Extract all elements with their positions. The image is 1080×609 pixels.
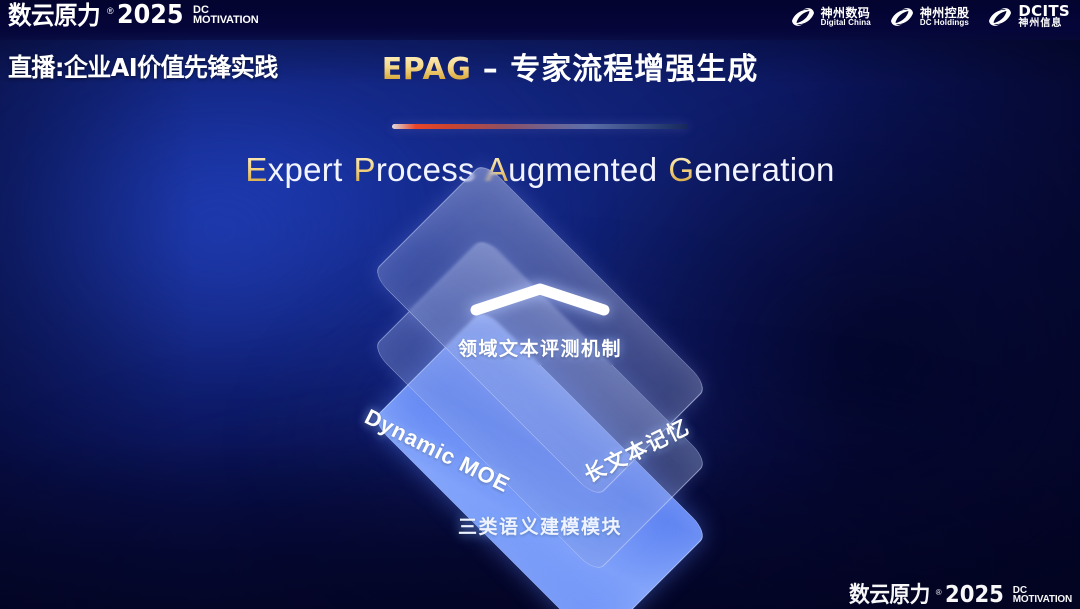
swoosh-icon bbox=[889, 6, 915, 28]
partner-name-en: 神州信息 bbox=[1018, 19, 1070, 29]
expansion-rest: xpert bbox=[268, 151, 343, 188]
brand-name-cn: 数云原力 bbox=[8, 3, 100, 28]
partner-name-en: DC Holdings bbox=[920, 19, 970, 27]
title-separator: – bbox=[471, 52, 510, 87]
brand-motivation-label: MOTIVATION bbox=[1013, 595, 1072, 604]
title-acronym: EPAG bbox=[382, 52, 472, 87]
slide-title: EPAG – 专家流程增强生成 bbox=[0, 53, 1080, 86]
partner-name-cn: DCITS bbox=[1018, 4, 1070, 19]
brand-registered-mark: ® bbox=[107, 7, 114, 16]
brand-registered-mark: ® bbox=[936, 589, 942, 597]
expansion-rest: eneration bbox=[694, 151, 834, 188]
expansion-word-expert: Expert bbox=[245, 151, 342, 188]
partner-name-cn: 神州控股 bbox=[920, 7, 970, 19]
brand-logo-top: 数云原力 ® 2025 DC MOTIVATION bbox=[8, 2, 258, 28]
swoosh-icon bbox=[987, 6, 1013, 28]
partner-name-en: Digital China bbox=[821, 19, 871, 27]
title-divider bbox=[392, 124, 688, 129]
brand-dc-motivation: DC MOTIVATION bbox=[193, 5, 258, 25]
expansion-initial: E bbox=[245, 151, 267, 188]
partner-logo-dcits: DCITS 神州信息 bbox=[987, 4, 1070, 29]
slide-canvas: 数云原力 ® 2025 DC MOTIVATION 直播:企业AI价值先锋实践 … bbox=[0, 0, 1080, 609]
swoosh-icon bbox=[790, 6, 816, 28]
expansion-initial: P bbox=[354, 151, 376, 188]
brand-dc-motivation: DC MOTIVATION bbox=[1013, 586, 1072, 604]
partner-logo-group: 神州数码 Digital China 神州控股 DC Holdings bbox=[790, 4, 1070, 29]
brand-logo-watermark: 数云原力 ® 2025 DC MOTIVATION bbox=[849, 584, 1072, 607]
partner-logo-digital-china: 神州数码 Digital China bbox=[790, 6, 871, 28]
partner-logo-dc-holdings: 神州控股 DC Holdings bbox=[889, 6, 970, 28]
brand-year: 2025 bbox=[117, 2, 184, 28]
layer-label-bottom: 三类语义建模模块 bbox=[458, 512, 622, 539]
brand-name-cn: 数云原力 bbox=[849, 585, 930, 607]
layer-label-top: 领域文本评测机制 bbox=[458, 334, 622, 361]
title-chinese: 专家流程增强生成 bbox=[510, 52, 758, 87]
brand-motivation-label: MOTIVATION bbox=[193, 15, 258, 25]
brand-year: 2025 bbox=[945, 584, 1004, 607]
chevron-up-icon bbox=[467, 281, 613, 317]
partner-name-cn: 神州数码 bbox=[821, 7, 871, 19]
